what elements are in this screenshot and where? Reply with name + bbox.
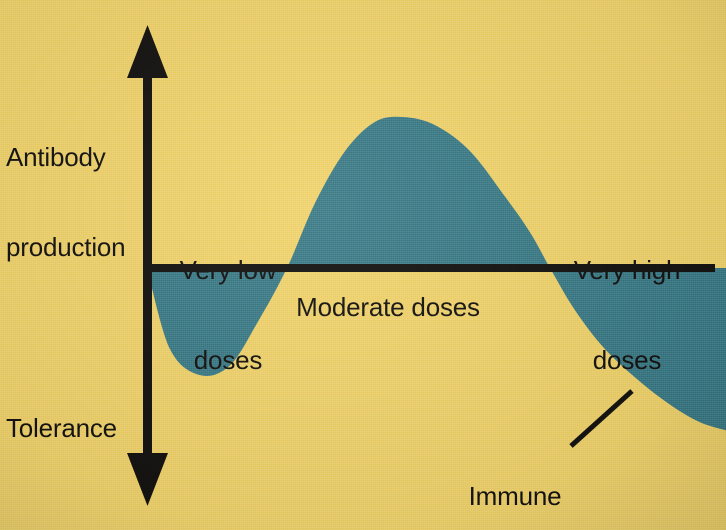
annotation-very-low-doses: Very low doses <box>163 195 293 435</box>
axis-label-tolerance: Tolerance <box>6 413 117 443</box>
annotation-very-high-doses: Very high doses <box>557 195 697 435</box>
annotation-very-high-doses-line2: doses <box>557 345 697 375</box>
axis-arrow-down-icon <box>127 453 168 506</box>
axis-arrow-up-icon <box>127 25 168 78</box>
axis-label-antibody-production: Antibody production <box>6 82 125 322</box>
annotation-very-high-doses-line1: Very high <box>557 255 697 285</box>
annotation-immune-paralysis-line1: Immune <box>430 481 600 511</box>
axis-label-antibody-production-line2: production <box>6 232 125 262</box>
annotation-very-low-doses-line2: doses <box>163 345 293 375</box>
annotation-moderate-doses: Moderate doses <box>283 292 493 322</box>
axis-label-antibody-production-line1: Antibody <box>6 142 125 172</box>
annotation-very-low-doses-line1: Very low <box>163 255 293 285</box>
annotation-immune-paralysis: Immune paralysis <box>430 421 600 530</box>
dose-response-figure: Antibody production Tolerance Very low d… <box>0 0 726 530</box>
